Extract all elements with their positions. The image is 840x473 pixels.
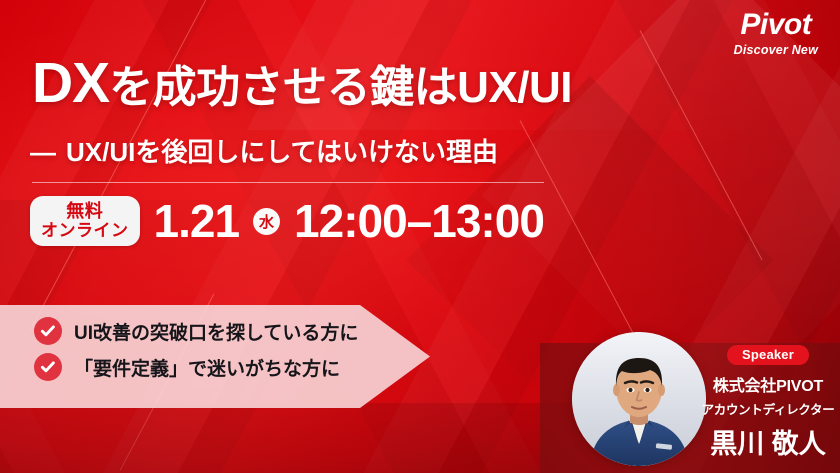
avatar (572, 332, 706, 466)
subtitle-text: UX/UIを後回しにしてはいけない理由 (66, 137, 498, 167)
speaker-info: Speaker 株式会社PIVOT アカウントディレクター 黒川 敬人 (700, 345, 836, 461)
speaker-company: 株式会社PIVOT (700, 372, 836, 396)
event-day-of-week: 水 (253, 208, 280, 235)
speaker-name: 黒川 敬人 (700, 422, 836, 461)
subtitle-dash: — (30, 137, 56, 168)
pivot-logo: Pivot Discover New (734, 10, 818, 57)
title-rest: を成功させる鍵はUX/UI (109, 63, 572, 112)
check-icon (34, 353, 62, 381)
webinar-banner: Pivot Discover New DXを成功させる鍵はUX/UI —UX/U… (0, 0, 840, 473)
event-date: 1.21 (154, 198, 240, 244)
divider (32, 182, 544, 183)
check-icon (34, 317, 62, 345)
badge-line-2: オンライン (41, 221, 129, 240)
page-title: DXを成功させる鍵はUX/UI (32, 55, 572, 112)
badge-line-1: 無料 (41, 201, 129, 221)
list-item: UI改善の突破口を探している方に (34, 317, 430, 345)
audience-panel: UI改善の突破口を探している方に 「要件定義」で迷いがちな方に (0, 305, 430, 408)
status-badge: Speaker (727, 345, 809, 365)
page-subtitle: —UX/UIを後回しにしてはいけない理由 (30, 132, 498, 169)
event-time: 12:00–13:00 (294, 198, 544, 244)
list-item: 「要件定義」で迷いがちな方に (34, 353, 430, 381)
logo-tagline: Discover New (734, 44, 818, 57)
list-item-label: UI改善の突破口を探している方に (74, 318, 358, 345)
event-schedule: 無料 オンライン 1.21 水 12:00–13:00 (30, 196, 544, 246)
title-highlight: DX (32, 51, 109, 115)
free-online-badge: 無料 オンライン (30, 196, 140, 246)
logo-wordmark: Pivot (734, 10, 818, 40)
list-item-label: 「要件定義」で迷いがちな方に (74, 354, 340, 381)
speaker-role: アカウントディレクター (700, 399, 836, 418)
